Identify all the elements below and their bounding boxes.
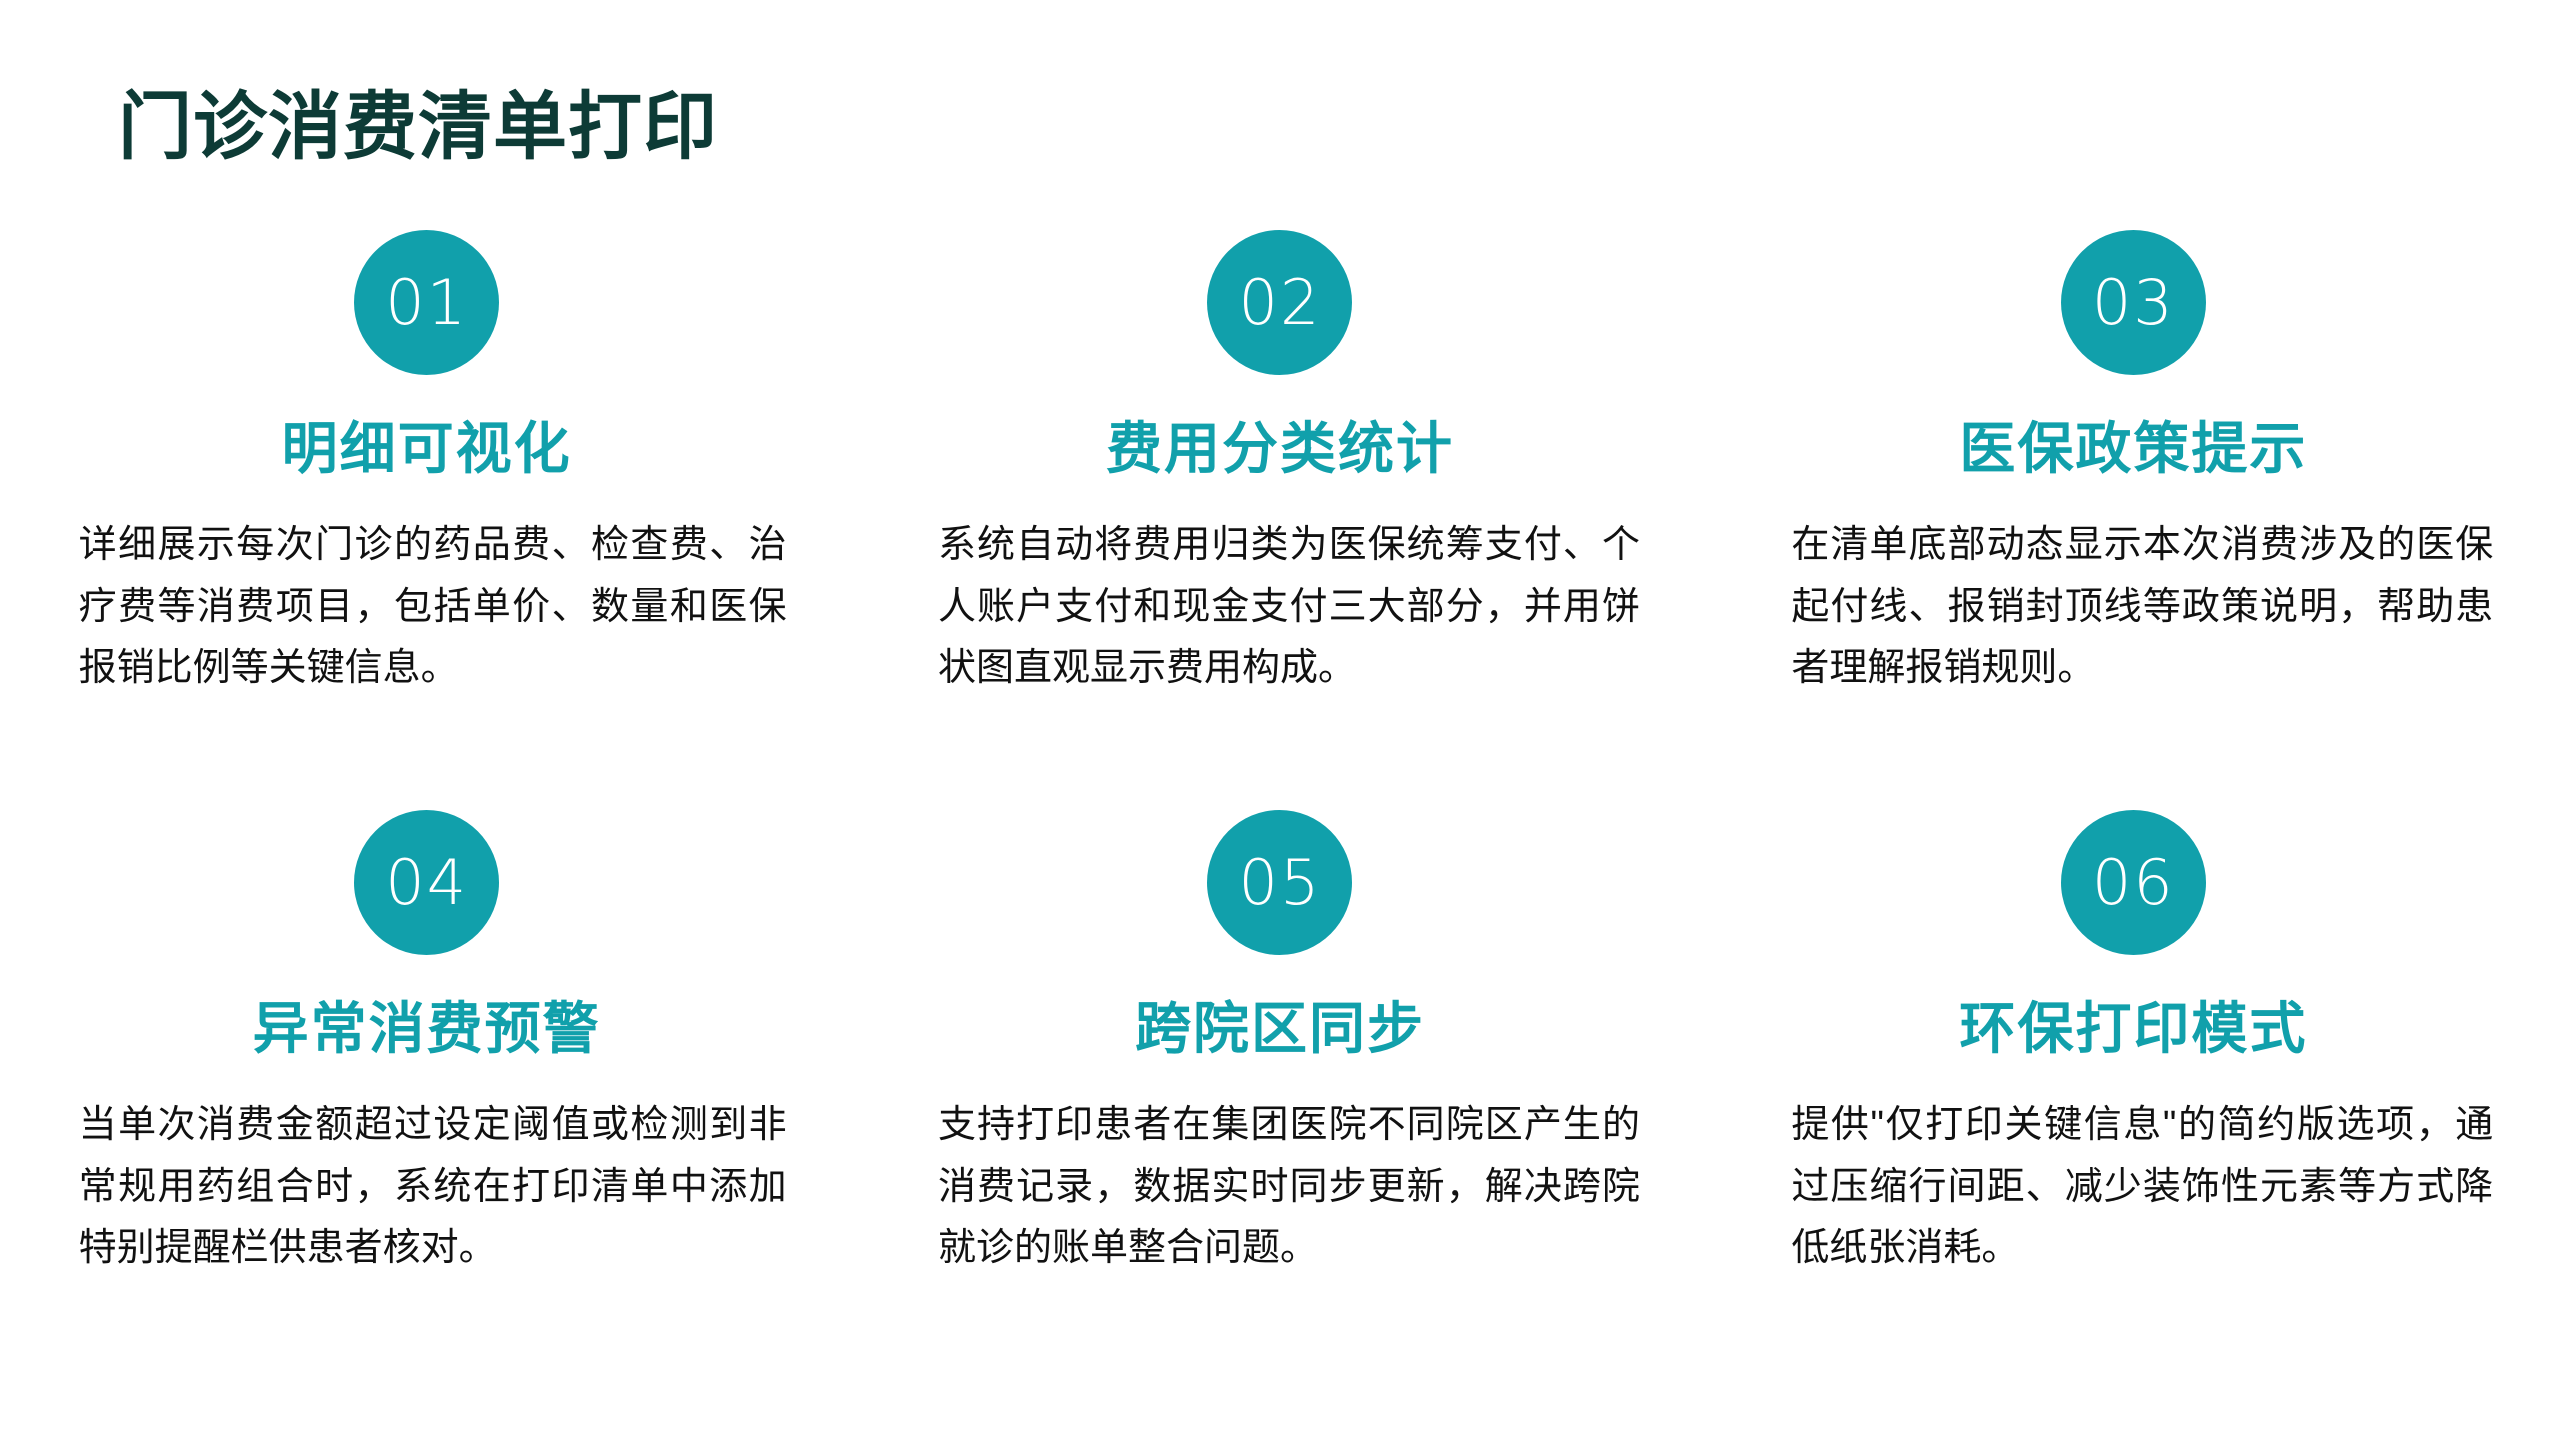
badge-number-text: 03 bbox=[2092, 272, 2175, 334]
feature-title-05: 跨院区同步 bbox=[1135, 997, 1425, 1061]
number-badge-05: 05 bbox=[1207, 810, 1352, 955]
feature-title-03: 医保政策提示 bbox=[1959, 417, 2307, 481]
feature-body-04: 当单次消费金额超过设定阈值或检测到非常规用药组合时，系统在打印清单中添加特别提醒… bbox=[67, 1095, 787, 1280]
badge-number-text: 05 bbox=[1239, 852, 1322, 914]
feature-title-01: 明细可视化 bbox=[282, 417, 572, 481]
feature-title-04: 异常消费预警 bbox=[253, 997, 601, 1061]
feature-body-01: 详细展示每次门诊的药品费、检查费、治疗费等消费项目，包括单价、数量和医保报销比例… bbox=[67, 515, 787, 700]
number-badge-02: 02 bbox=[1207, 230, 1352, 375]
page-title: 门诊消费清单打印 bbox=[118, 86, 718, 167]
feature-body-05: 支持打印患者在集团医院不同院区产生的消费记录，数据实时同步更新，解决跨院就诊的账… bbox=[920, 1095, 1640, 1280]
feature-card-06: 06 环保打印模式 提供"仅打印关键信息"的简约版选项，通过压缩行间距、减少装饰… bbox=[1707, 810, 2560, 1390]
slide-root: 门诊消费清单打印 01 明细可视化 详细展示每次门诊的药品费、检查费、治疗费等消… bbox=[0, 0, 2560, 1440]
badge-number-text: 02 bbox=[1239, 272, 1322, 334]
feature-body-06: 提供"仅打印关键信息"的简约版选项，通过压缩行间距、减少装饰性元素等方式降低纸张… bbox=[1773, 1095, 2493, 1280]
number-badge-04: 04 bbox=[354, 810, 499, 955]
number-badge-06: 06 bbox=[2061, 810, 2206, 955]
feature-body-02: 系统自动将费用归类为医保统筹支付、个人账户支付和现金支付三大部分，并用饼状图直观… bbox=[920, 515, 1640, 700]
feature-card-01: 01 明细可视化 详细展示每次门诊的药品费、检查费、治疗费等消费项目，包括单价、… bbox=[0, 230, 853, 810]
feature-body-03: 在清单底部动态显示本次消费涉及的医保起付线、报销封顶线等政策说明，帮助患者理解报… bbox=[1773, 515, 2493, 700]
badge-number-text: 06 bbox=[2092, 852, 2175, 914]
badge-number-text: 04 bbox=[385, 852, 468, 914]
badge-number-text: 01 bbox=[385, 272, 468, 334]
feature-card-03: 03 医保政策提示 在清单底部动态显示本次消费涉及的医保起付线、报销封顶线等政策… bbox=[1707, 230, 2560, 810]
feature-grid: 01 明细可视化 详细展示每次门诊的药品费、检查费、治疗费等消费项目，包括单价、… bbox=[0, 230, 2560, 1390]
number-badge-01: 01 bbox=[354, 230, 499, 375]
feature-title-06: 环保打印模式 bbox=[1959, 997, 2307, 1061]
feature-card-04: 04 异常消费预警 当单次消费金额超过设定阈值或检测到非常规用药组合时，系统在打… bbox=[0, 810, 853, 1390]
feature-card-02: 02 费用分类统计 系统自动将费用归类为医保统筹支付、个人账户支付和现金支付三大… bbox=[853, 230, 1706, 810]
feature-card-05: 05 跨院区同步 支持打印患者在集团医院不同院区产生的消费记录，数据实时同步更新… bbox=[853, 810, 1706, 1390]
number-badge-03: 03 bbox=[2061, 230, 2206, 375]
feature-title-02: 费用分类统计 bbox=[1106, 417, 1454, 481]
